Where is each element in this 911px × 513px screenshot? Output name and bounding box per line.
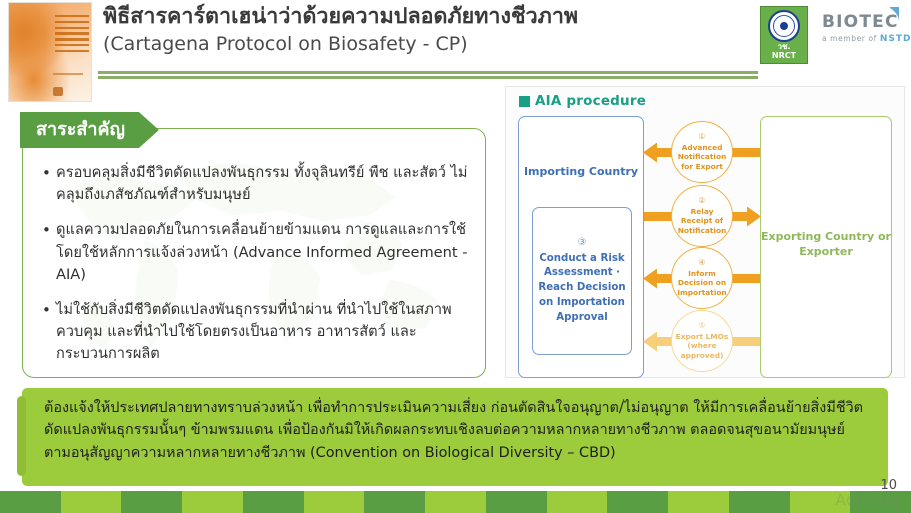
list-item: • ครอบคลุมสิ่งมีชีวิตดัดแปลงพันธุกรรม ทั…	[40, 162, 470, 206]
page-title-english: (Cartagena Protocol on Biosafety - CP)	[103, 32, 743, 57]
step-label: Export LMOs (where approved)	[672, 332, 732, 361]
biotec-logo: BIOTEC a member of NSTDA	[822, 14, 902, 44]
risk-assessment-box: ③ Conduct a Risk Assessment · Reach Deci…	[532, 207, 632, 355]
risk-assessment-text: Conduct a Risk Assessment · Reach Decisi…	[537, 252, 627, 326]
step-label: Advanced Notification for Export	[672, 143, 732, 172]
key-points-banner-label: สาระสำคัญ	[36, 121, 125, 139]
nstda-text: NSTDA	[880, 34, 911, 44]
exporting-country-box: Exporting Country or Exporter	[760, 116, 892, 378]
bullet-marker-icon: •	[40, 299, 56, 366]
step-number: ②	[698, 197, 705, 205]
square-bullet-icon	[519, 96, 530, 107]
header-divider	[98, 71, 758, 79]
nrct-logo: วช. NRCT	[760, 6, 808, 64]
nrct-logo-english: NRCT	[772, 52, 796, 61]
biotec-logo-subtitle: a member of NSTDA	[822, 34, 902, 44]
importing-country-label: Importing Country	[519, 165, 643, 179]
bullet-marker-icon: •	[40, 162, 56, 206]
biotec-member-prefix: a member of	[822, 34, 877, 43]
importing-country-box: Importing Country ③ Conduct a Risk Asses…	[518, 116, 644, 378]
list-item-text: ครอบคลุมสิ่งมีชีวิตดัดแปลงพันธุกรรม ทั้ง…	[56, 162, 470, 206]
step-label: Inform Decision on Importation	[672, 269, 732, 298]
key-points-banner: สาระสำคัญ	[20, 112, 159, 148]
list-item-text: ดูแลความปลอดภัยในการเคลื่อนย้ายข้ามแดน ก…	[56, 219, 470, 286]
list-item-text: ไม่ใช้กับสิ่งมีชีวิตดัดแปลงพันธุกรรมที่น…	[56, 299, 470, 366]
bullet-marker-icon: •	[40, 219, 56, 286]
book-cover-subtitle-lines	[53, 73, 83, 77]
page-title: พิธีสารคาร์ตาเฮน่าว่าด้วยความปลอดภัยทางช…	[103, 4, 743, 57]
activate-watermark: Activate	[836, 491, 901, 509]
list-item: • ดูแลความปลอดภัยในการเคลื่อนย้ายข้ามแดน…	[40, 219, 470, 286]
cartagena-book-cover	[8, 2, 92, 102]
summary-note-box: ต้องแจ้งให้ประเทศปลายทางทราบล่วงหน้า เพื…	[22, 388, 888, 486]
note-box-handle	[17, 396, 26, 476]
book-cover-title-lines	[55, 15, 89, 55]
step-number: ④	[698, 259, 705, 267]
footer-checker-strip	[0, 491, 911, 513]
step-number: ⑤	[698, 322, 705, 330]
step-circle-5: ⑤ Export LMOs (where approved)	[671, 310, 733, 372]
aia-diagram-heading-label: AIA procedure	[535, 93, 646, 109]
biotec-swoosh-icon	[889, 7, 900, 22]
summary-note-text: ต้องแจ้งให้ประเทศปลายทางทราบล่วงหน้า เพื…	[44, 397, 874, 464]
aia-diagram-heading: AIA procedure	[519, 93, 646, 109]
step-label: Relay Receipt of Notification	[672, 207, 732, 236]
risk-assessment-step-number: ③	[578, 237, 587, 248]
header-divider-line-bottom	[98, 76, 758, 79]
slide-canvas: พิธีสารคาร์ตาเฮน่าว่าด้วยความปลอดภัยทางช…	[0, 0, 911, 513]
step-circle-2: ② Relay Receipt of Notification	[671, 185, 733, 247]
page-title-thai: พิธีสารคาร์ตาเฮน่าว่าด้วยความปลอดภัยทางช…	[103, 4, 743, 31]
step-number: ①	[698, 133, 705, 141]
step-circle-1: ① Advanced Notification for Export	[671, 121, 733, 183]
nrct-emblem-icon	[768, 10, 800, 42]
list-item: • ไม่ใช้กับสิ่งมีชีวิตดัดแปลงพันธุกรรมที…	[40, 299, 470, 366]
step-circle-4: ④ Inform Decision on Importation	[671, 247, 733, 309]
key-points-list: • ครอบคลุมสิ่งมีชีวิตดัดแปลงพันธุกรรม ทั…	[40, 162, 470, 378]
exporting-country-label: Exporting Country or Exporter	[761, 229, 891, 260]
book-cover-logo	[53, 87, 63, 96]
